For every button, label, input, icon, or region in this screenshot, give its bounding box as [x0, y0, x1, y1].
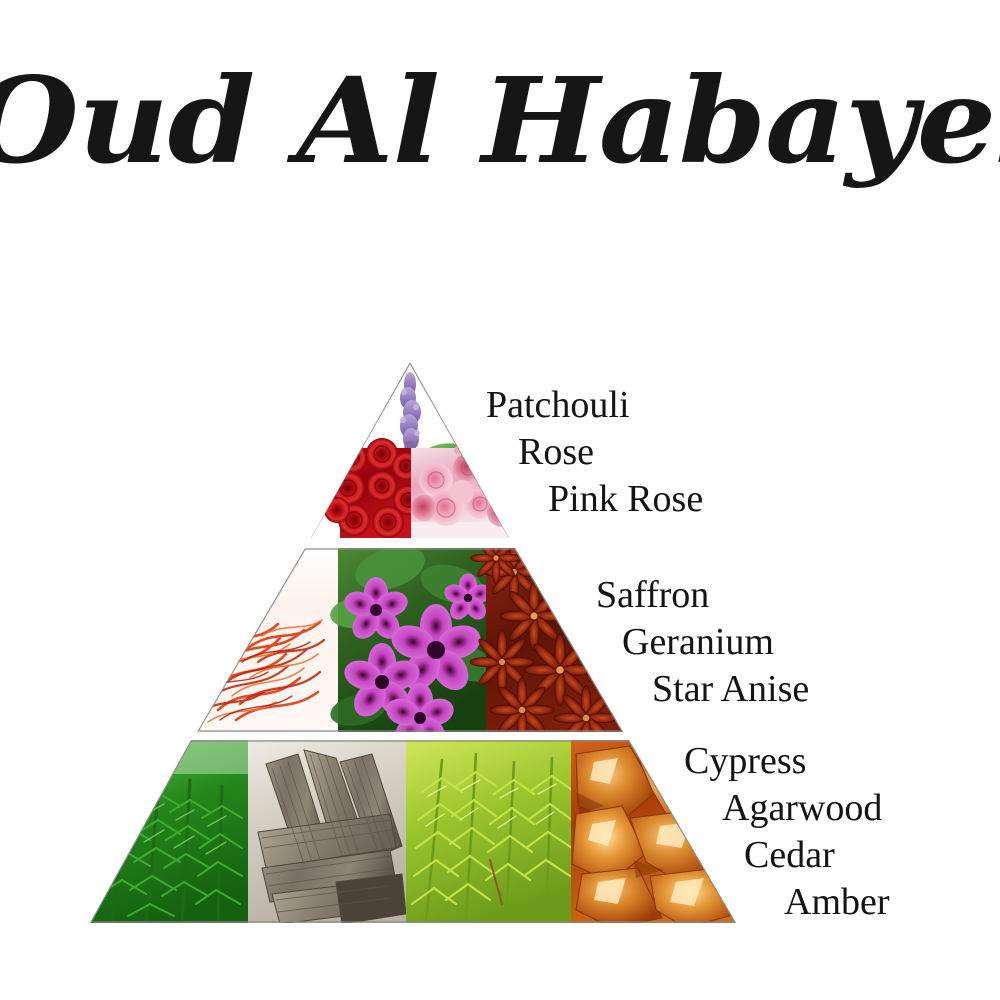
agarwood-sticks-image: [248, 740, 408, 924]
fragrance-pyramid-graphic: Oud Al Habayeb: [0, 0, 1000, 1000]
middle-notes-labels: Saffron Geranium Star Anise: [596, 572, 809, 713]
note-label-agarwood: Agarwood: [722, 785, 890, 832]
note-label-amber: Amber: [784, 879, 890, 926]
note-label-rose: Rose: [518, 429, 703, 476]
base-notes-labels: Cypress Agarwood Cedar Amber: [684, 738, 890, 926]
note-label-pink-rose: Pink Rose: [548, 476, 703, 523]
geranium-flowers-image: [327, 538, 500, 755]
note-label-geranium: Geranium: [622, 619, 809, 666]
patchouli-sprig-image: [348, 372, 475, 494]
cedar-foliage-image: [406, 740, 574, 924]
cypress-foliage-image: [90, 740, 250, 924]
note-label-cedar: Cedar: [744, 832, 890, 879]
note-label-patchouli: Patchouli: [486, 382, 703, 429]
page-title: Oud Al Habayeb: [0, 62, 1000, 180]
top-notes-labels: Patchouli Rose Pink Rose: [486, 382, 703, 523]
note-label-star-anise: Star Anise: [652, 666, 809, 713]
saffron-threads-image: [190, 548, 338, 734]
base-notes-band: [90, 740, 736, 924]
note-label-cypress: Cypress: [684, 738, 890, 785]
red-roses-image: [324, 438, 423, 540]
note-label-saffron: Saffron: [596, 572, 809, 619]
